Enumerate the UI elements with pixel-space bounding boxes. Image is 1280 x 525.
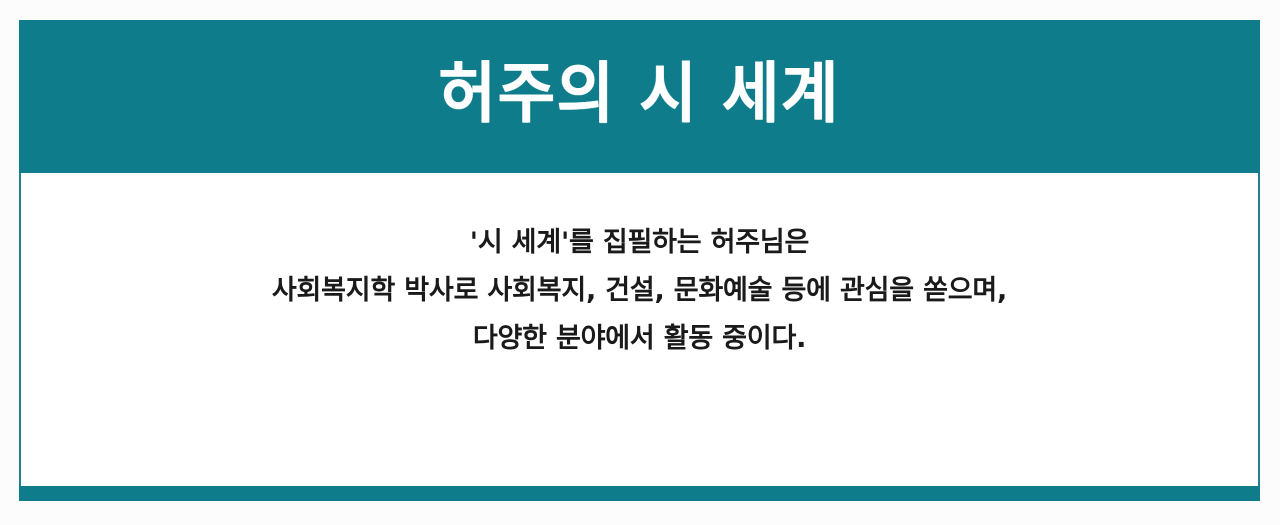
description-panel: '시 세계'를 집필하는 허주님은 사회복지학 박사로 사회복지, 건설, 문화…	[19, 173, 1260, 486]
description-line-1: '시 세계'를 집필하는 허주님은	[272, 219, 1007, 267]
footer-accent-bar	[19, 486, 1260, 501]
header-banner: 허주의 시 세계	[19, 20, 1260, 173]
page-title: 허주의 시 세계	[439, 60, 840, 132]
profile-card: 허주의 시 세계 '시 세계'를 집필하는 허주님은 사회복지학 박사로 사회복…	[19, 20, 1260, 501]
description-text-block: '시 세계'를 집필하는 허주님은 사회복지학 박사로 사회복지, 건설, 문화…	[272, 219, 1007, 363]
description-line-3: 다양한 분야에서 활동 중이다.	[272, 315, 1007, 363]
description-line-2: 사회복지학 박사로 사회복지, 건설, 문화예술 등에 관심을 쏟으며,	[272, 267, 1007, 315]
